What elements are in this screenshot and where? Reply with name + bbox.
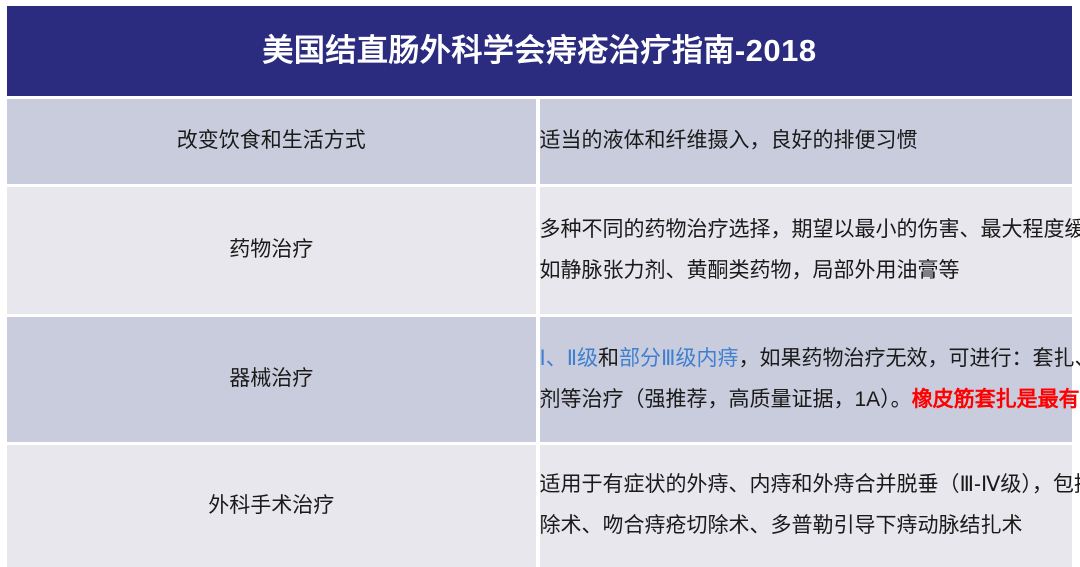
description-cell-device: Ⅰ、Ⅱ级和部分Ⅲ级内痔，如果药物治疗无效，可进行：套扎、硬化 剂等治疗（强推荐，… — [540, 317, 1073, 445]
table-row: 外科手术治疗 适用于有症状的外痔、内痔和外痔合并脱垂（Ⅲ-Ⅳ级），包括痔疮切 除… — [7, 445, 1072, 567]
category-label: 器械治疗 — [7, 365, 536, 393]
description-cell-surgery: 适用于有症状的外痔、内痔和外痔合并脱垂（Ⅲ-Ⅳ级），包括痔疮切 除术、吻合痔疮切… — [540, 445, 1073, 567]
treatment-guideline-table: 美国结直肠外科学会痔疮治疗指南-2018 改变饮食和生活方式 适当的液体和纤维摄… — [7, 6, 1072, 567]
text-segment: 除术、吻合痔疮切除术、多普勒引导下痔动脉结扎术 — [540, 514, 1023, 537]
text-segment: 如静脉张力剂、黄酮类药物，局部外用油膏等 — [540, 259, 960, 282]
page-title: 美国结直肠外科学会痔疮治疗指南-2018 — [7, 32, 1072, 69]
description-line: 如静脉张力剂、黄酮类药物，局部外用油膏等 — [540, 251, 1073, 292]
table-row: 药物治疗 多种不同的药物治疗选择，期望以最小的伤害、最大程度缓解症状， 如静脉张… — [7, 187, 1072, 317]
description-line: Ⅰ、Ⅱ级和部分Ⅲ级内痔，如果药物治疗无效，可进行：套扎、硬化 — [540, 339, 1073, 380]
table-row: 改变饮食和生活方式 适当的液体和纤维摄入，良好的排便习惯 — [7, 99, 1072, 187]
slide-canvas: 美国结直肠外科学会痔疮治疗指南-2018 改变饮食和生活方式 适当的液体和纤维摄… — [0, 0, 1080, 558]
description-line: 多种不同的药物治疗选择，期望以最小的伤害、最大程度缓解症状， — [540, 210, 1073, 251]
table-title-cell: 美国结直肠外科学会痔疮治疗指南-2018 — [7, 6, 1072, 99]
category-label: 药物治疗 — [7, 236, 536, 264]
category-label: 改变饮食和生活方式 — [7, 127, 536, 155]
text-segment: 剂等治疗（强推荐，高质量证据，1A）。 — [540, 388, 912, 411]
table-body: 美国结直肠外科学会痔疮治疗指南-2018 改变饮食和生活方式 适当的液体和纤维摄… — [7, 6, 1072, 567]
description-cell-medication: 多种不同的药物治疗选择，期望以最小的伤害、最大程度缓解症状， 如静脉张力剂、黄酮… — [540, 187, 1073, 317]
category-cell-surgery: 外科手术治疗 — [7, 445, 540, 567]
text-segment: 适用于有症状的外痔、内痔和外痔合并脱垂（Ⅲ-Ⅳ级），包括痔疮切 — [540, 473, 1080, 496]
description-cell-diet: 适当的液体和纤维摄入，良好的排便习惯 — [540, 99, 1073, 187]
table-title-row: 美国结直肠外科学会痔疮治疗指南-2018 — [7, 6, 1072, 99]
text-segment-highlight-red: 橡皮筋套扎是最有效的方法 — [912, 388, 1080, 411]
description-line: 适当的液体和纤维摄入，良好的排便习惯 — [540, 121, 1073, 162]
text-segment-highlight-blue: Ⅰ、Ⅱ级 — [540, 347, 599, 370]
category-label: 外科手术治疗 — [7, 492, 536, 520]
text-segment: 多种不同的药物治疗选择，期望以最小的伤害、最大程度缓解症状， — [540, 218, 1080, 241]
text-segment: 适当的液体和纤维摄入，良好的排便习惯 — [540, 129, 918, 152]
category-cell-medication: 药物治疗 — [7, 187, 540, 317]
description-line: 剂等治疗（强推荐，高质量证据，1A）。橡皮筋套扎是最有效的方法 — [540, 380, 1073, 421]
description-line: 适用于有症状的外痔、内痔和外痔合并脱垂（Ⅲ-Ⅳ级），包括痔疮切 — [540, 465, 1073, 506]
description-line: 除术、吻合痔疮切除术、多普勒引导下痔动脉结扎术 — [540, 506, 1073, 547]
text-segment-highlight-blue: 部分Ⅲ级内痔 — [619, 347, 738, 370]
category-cell-diet: 改变饮食和生活方式 — [7, 99, 540, 187]
text-segment: ，如果药物治疗无效，可进行：套扎、硬化 — [739, 347, 1080, 370]
text-segment: 和 — [598, 347, 619, 370]
table-row: 器械治疗 Ⅰ、Ⅱ级和部分Ⅲ级内痔，如果药物治疗无效，可进行：套扎、硬化 剂等治疗… — [7, 317, 1072, 445]
category-cell-device: 器械治疗 — [7, 317, 540, 445]
